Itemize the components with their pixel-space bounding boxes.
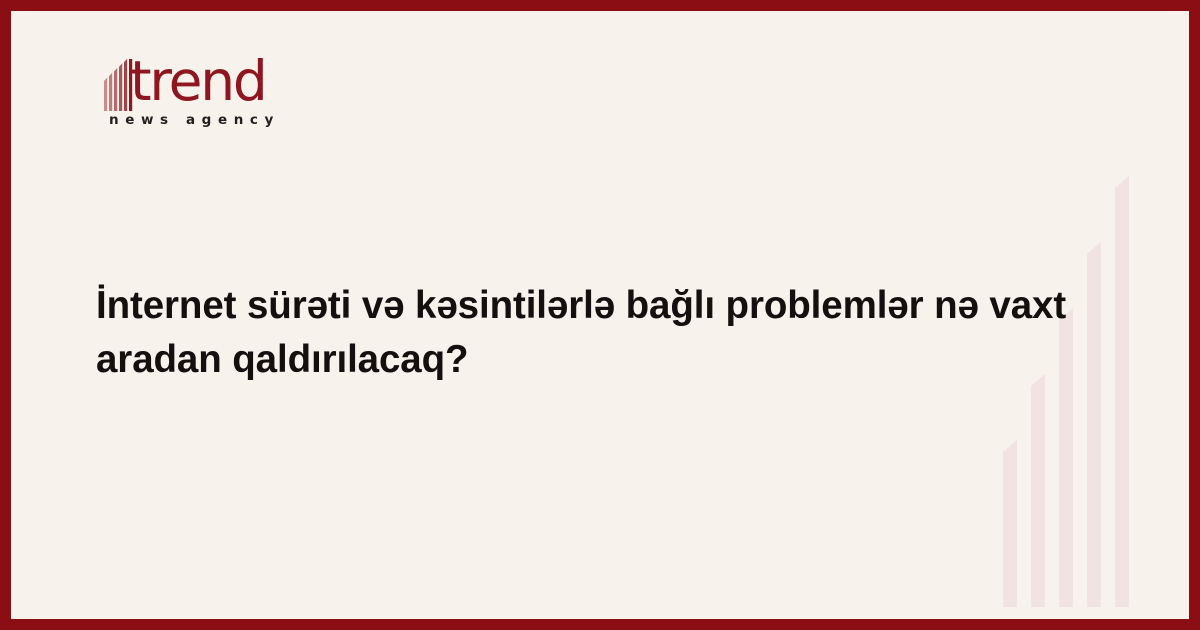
watermark-bar-5 bbox=[1115, 176, 1129, 607]
watermark-bar-2 bbox=[1031, 374, 1045, 607]
news-card: trend news agency İnternet sürəti və kəs… bbox=[0, 0, 1200, 630]
watermark-bar-1 bbox=[1003, 440, 1017, 607]
watermark-bar-4 bbox=[1087, 242, 1101, 607]
trend-logo[interactable]: trend news agency bbox=[97, 49, 297, 141]
logo-wordmark: trend bbox=[130, 49, 266, 113]
page-title: İnternet sürəti və kəsintilərlə bağlı pr… bbox=[96, 279, 1071, 387]
logo-tagline: news agency bbox=[109, 111, 280, 129]
